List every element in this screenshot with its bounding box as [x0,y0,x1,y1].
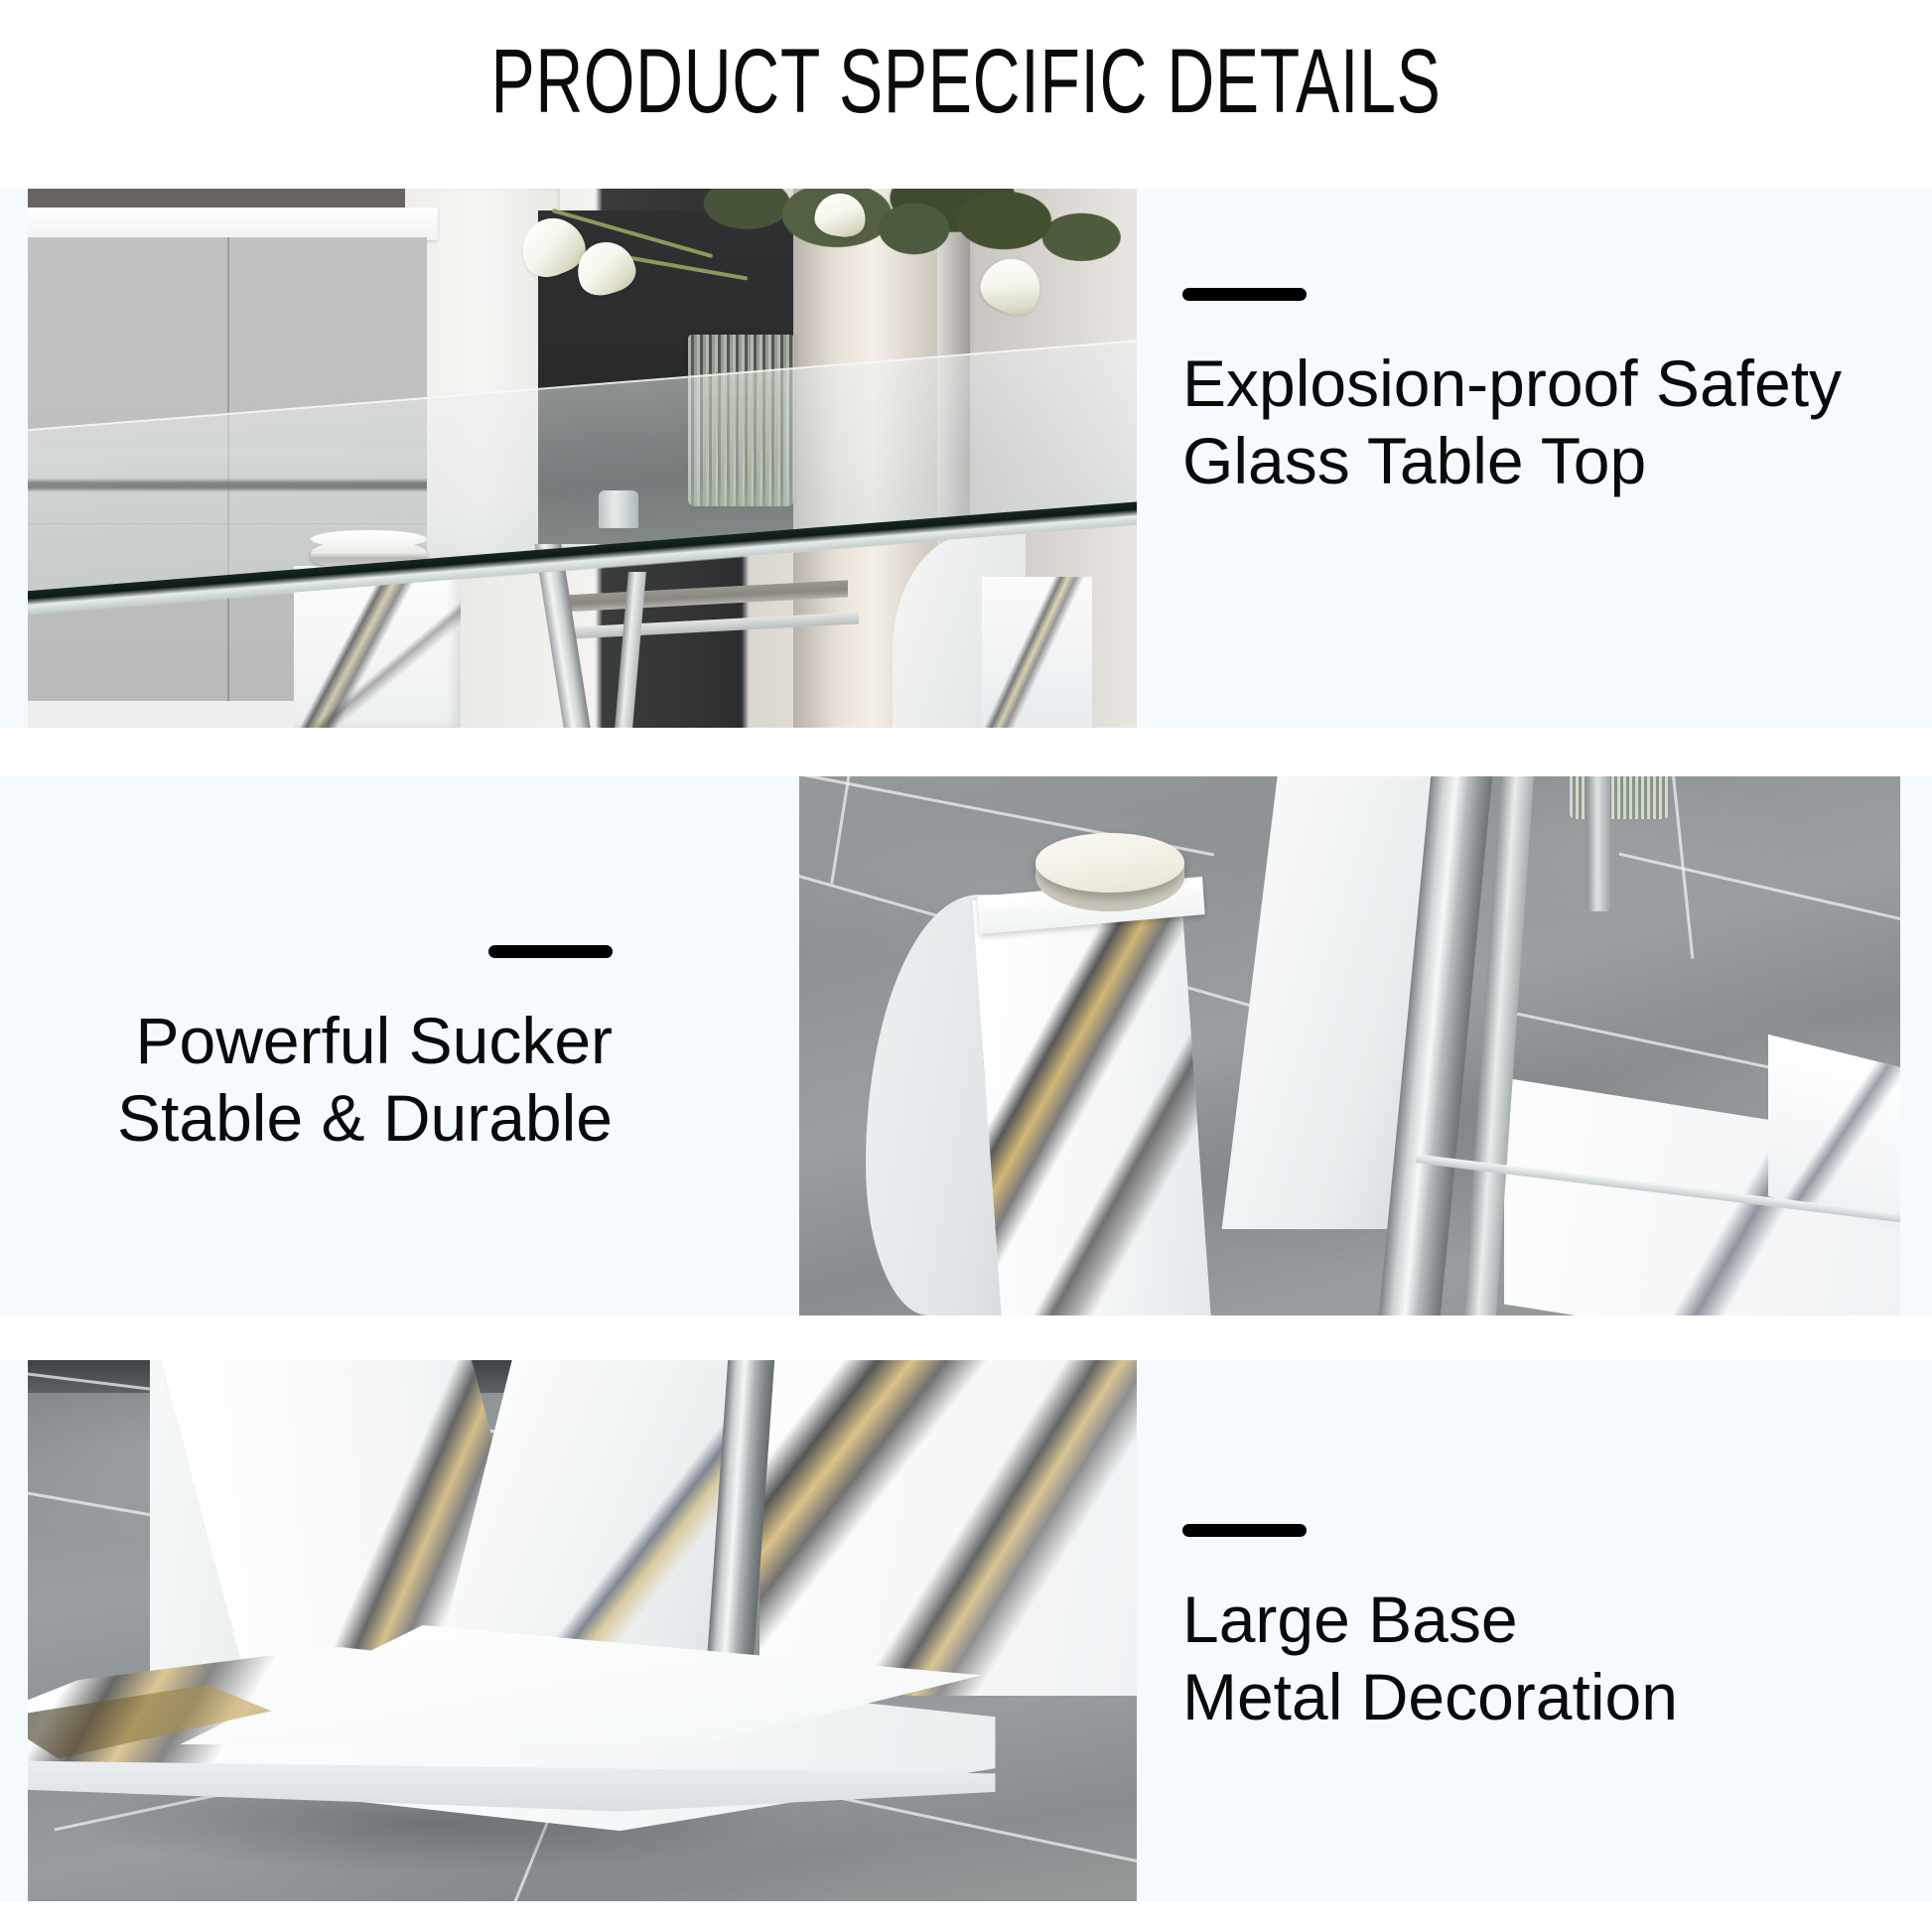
caption-line-3a: Large Base [1182,1581,1678,1658]
dash-marker-icon [1182,288,1307,301]
page-title: PRODUCT SPECIFIC DETAILS [270,36,1661,127]
caption-block-3: Large Base Metal Decoration [1182,1524,1678,1735]
detail-panel-sucker: Powerful Sucker Stable & Durable [0,776,1932,1315]
product-photo-large-base [28,1360,1137,1901]
detail-panel-glass-top: Explosion-proof Safety Glass Table Top [0,189,1932,728]
caption-line-2b: Stable & Durable [117,1079,613,1157]
caption-area-1: Explosion-proof Safety Glass Table Top [1137,189,1932,728]
caption-block-1: Explosion-proof Safety Glass Table Top [1182,288,1842,499]
caption-area-3: Large Base Metal Decoration [1137,1360,1932,1901]
caption-line-2a: Powerful Sucker [117,1002,613,1079]
caption-block-2: Powerful Sucker Stable & Durable [117,945,613,1157]
dash-marker-icon [488,945,613,958]
caption-area-2: Powerful Sucker Stable & Durable [0,776,799,1315]
product-photo-suction-pad [799,776,1900,1315]
detail-panel-base: Large Base Metal Decoration [0,1360,1932,1901]
caption-line-3b: Metal Decoration [1182,1658,1678,1735]
dash-marker-icon [1182,1524,1307,1537]
caption-line-1a: Explosion-proof Safety [1182,345,1842,422]
product-photo-glass-table-top [28,189,1137,728]
caption-line-1b: Glass Table Top [1182,422,1842,499]
